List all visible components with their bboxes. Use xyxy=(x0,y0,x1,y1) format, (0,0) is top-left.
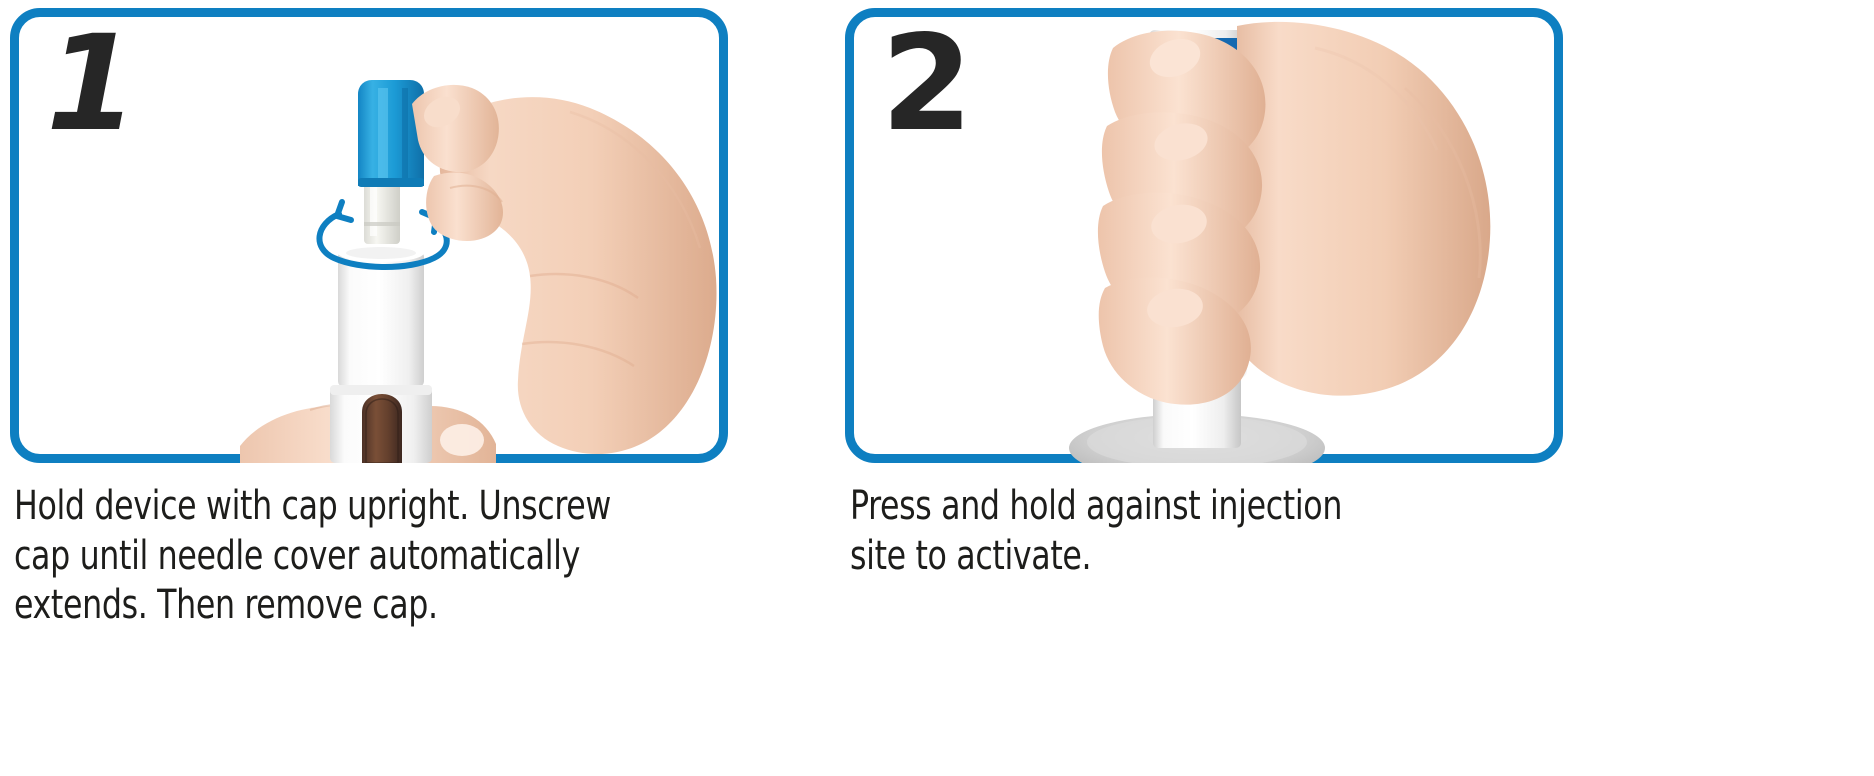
step-1-illustration xyxy=(10,8,728,463)
inspection-window xyxy=(362,394,402,463)
thumb xyxy=(412,85,499,172)
step-panel-2: 2 xyxy=(845,8,1563,463)
white-device-body xyxy=(330,244,432,463)
step-2-caption: Press and hold against injection site to… xyxy=(850,482,1554,581)
step-panel-1: 1 xyxy=(10,8,728,463)
clenched-hand xyxy=(1098,22,1490,405)
step-2-illustration: SAMPLE Two Step Carton xyxy=(845,8,1563,463)
step-1-caption: Hold device with cap upright. Unscrew ca… xyxy=(14,482,771,631)
needle-cover-tip xyxy=(364,178,400,244)
instruction-sheet: 1 xyxy=(0,0,1874,776)
holding-hand xyxy=(412,85,717,454)
blue-cap xyxy=(358,80,424,187)
